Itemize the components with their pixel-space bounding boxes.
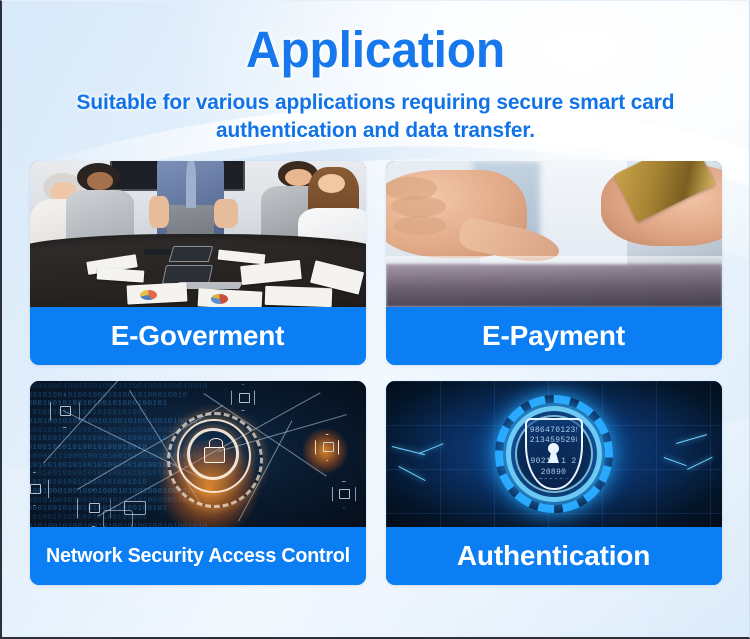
page-header: Application Suitable for various applica… [2, 1, 749, 144]
binary-code-row: 1001000101001010010001010010100010010 [30, 444, 148, 452]
application-card-e-goverment[interactable]: E-Goverment [30, 161, 366, 365]
card-payment-hands-photo [386, 161, 722, 307]
shield-digit-row: 9864701239867656 [530, 426, 578, 437]
binary-code-row: 0100100010010001000101001000100010010 [30, 435, 168, 443]
application-card-network-security[interactable]: 0100100010010001000101001000100010010100… [30, 381, 366, 585]
lock-icon [204, 447, 225, 463]
card-label-e-goverment: E-Goverment [30, 307, 366, 365]
padlock-node-icon [332, 481, 356, 508]
boardroom-meeting-photo [30, 161, 366, 307]
application-card-e-payment[interactable]: E-Payment [386, 161, 722, 365]
application-page: Application Suitable for various applica… [0, 0, 750, 639]
application-card-grid: E-Goverment [30, 161, 722, 585]
authentication-shield-photo: 986470123986765621345952981463 090213 1 … [386, 381, 722, 527]
lock-icon [209, 438, 223, 447]
card-label-authentication: Authentication [386, 527, 722, 585]
card-label-network-security: Network Security Access Control [36, 527, 359, 585]
binary-code-row: 0100100010010001000101001000100010010 [30, 383, 208, 391]
padlock-node-icon [231, 384, 255, 411]
network-security-photo: 0100100010010001000101001000100010010100… [30, 381, 366, 527]
page-subtitle: Suitable for various applications requir… [13, 88, 738, 145]
binary-code-row: 1001000101001010010001010010100010010 [30, 392, 188, 400]
page-title: Application [24, 23, 726, 77]
application-card-authentication[interactable]: 986470123986765621345952981463 090213 1 … [386, 381, 722, 585]
card-label-e-payment: E-Payment [386, 307, 722, 365]
shield-digit-row: 798284 985789 [530, 478, 578, 479]
